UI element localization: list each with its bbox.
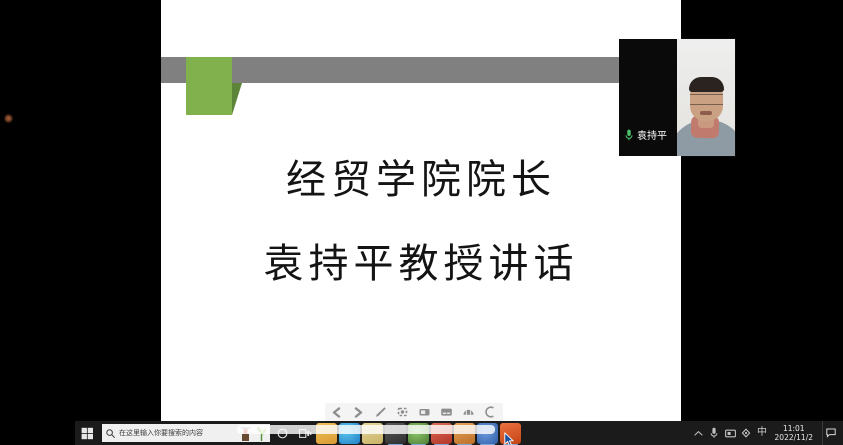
slide-green-shadow-decoration — [232, 83, 242, 115]
tray-display-button[interactable] — [725, 427, 736, 440]
presenter-toolbar[interactable] — [325, 403, 503, 421]
slide-title-block: 经贸学院院长 袁持平教授讲话 — [161, 138, 681, 306]
task-view-icon — [299, 428, 312, 439]
app-store[interactable] — [362, 423, 383, 444]
tray-network-button[interactable] — [741, 427, 752, 440]
screen: 经贸学院院长 袁持平教授讲话 — [0, 0, 843, 445]
previous-slide-icon[interactable] — [328, 405, 345, 420]
app-wechat[interactable] — [385, 423, 406, 444]
app-powerpoint[interactable] — [500, 423, 521, 444]
show-hidden-icons-button[interactable] — [693, 427, 704, 440]
cortana-circle-icon — [277, 428, 288, 439]
participant-hair — [689, 77, 724, 92]
network-icon — [741, 428, 751, 438]
participant-glasses — [690, 94, 723, 105]
search-suggestion-thumbnail-1[interactable] — [238, 425, 253, 442]
taskbar-clock[interactable]: 11:01 2022/11/2 — [775, 424, 813, 442]
participant-mouth — [700, 111, 712, 115]
slide-title-line-2: 袁持平教授讲话 — [161, 222, 681, 306]
slide-zoom-icon[interactable] — [416, 405, 433, 420]
more-options-icon[interactable] — [482, 405, 499, 420]
app-word[interactable] — [431, 423, 452, 444]
start-button[interactable] — [75, 421, 100, 445]
app-browser[interactable] — [408, 423, 429, 444]
clock-date: 2022/11/2 — [775, 433, 813, 442]
next-slide-icon[interactable] — [350, 405, 367, 420]
participant-name-badge: 袁持平 — [625, 127, 667, 142]
camera-indicator-led-icon — [4, 114, 13, 123]
notification-center-button[interactable] — [822, 421, 839, 445]
powerpoint-slideshow[interactable]: 经贸学院院长 袁持平教授讲话 — [161, 0, 681, 421]
ime-indicator-label: 中 — [757, 428, 767, 438]
app-meeting[interactable] — [454, 423, 475, 444]
search-icon — [106, 429, 115, 438]
windows-taskbar[interactable]: 在这里输入你要搜索的内容 — [75, 421, 843, 445]
tray-microphone-button[interactable] — [709, 427, 720, 440]
system-tray[interactable]: 中 11:01 2022/11/2 — [693, 421, 843, 445]
microphone-icon — [710, 427, 718, 439]
ime-language-button[interactable]: 中 — [757, 427, 768, 440]
participant-video-thumbnail[interactable]: 袁持平 — [619, 39, 735, 156]
display-icon — [725, 429, 736, 438]
app-explorer[interactable] — [316, 423, 337, 444]
slide-title-line-1: 经贸学院院长 — [161, 138, 681, 222]
slide-green-block-decoration — [186, 57, 232, 115]
app-chrome[interactable] — [477, 423, 498, 444]
windows-logo-icon — [81, 427, 94, 440]
all-slides-grid-icon[interactable] — [460, 405, 477, 420]
slide-gray-bar-decoration — [161, 57, 681, 83]
microphone-icon — [625, 129, 633, 141]
taskbar-pinned-apps[interactable] — [316, 421, 521, 445]
laser-pointer-icon[interactable] — [394, 405, 411, 420]
speech-bubble-icon — [826, 428, 836, 438]
participant-video-feed — [677, 39, 735, 156]
pen-tool-icon[interactable] — [372, 405, 389, 420]
cortana-button[interactable] — [270, 421, 294, 445]
chevron-up-icon — [694, 430, 703, 437]
task-view-button[interactable] — [294, 421, 316, 445]
app-edge[interactable] — [339, 423, 360, 444]
search-suggestion-thumbnail-2[interactable] — [254, 425, 269, 442]
taskbar-search-box[interactable]: 在这里输入你要搜索的内容 — [102, 424, 270, 442]
clock-time: 11:01 — [775, 424, 813, 433]
participant-name-label: 袁持平 — [637, 127, 667, 142]
subtitles-icon[interactable] — [438, 405, 455, 420]
search-placeholder-text: 在这里输入你要搜索的内容 — [119, 428, 203, 438]
